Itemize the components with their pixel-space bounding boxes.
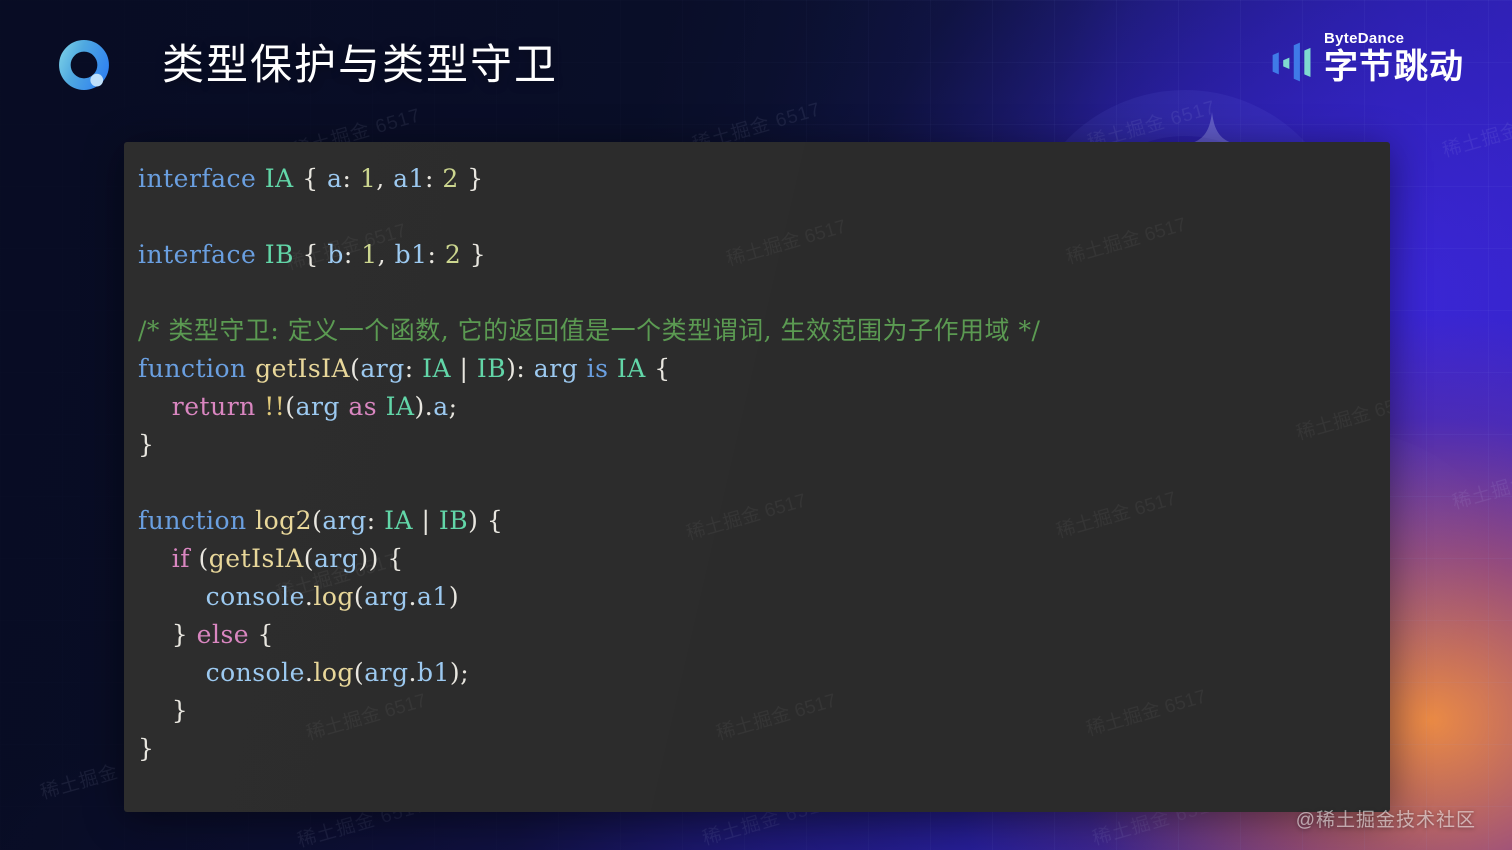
slide-root: 稀土掘金 6517 稀土掘金 6517 稀土掘金 6517 稀土掘金 6517 … — [0, 0, 1512, 850]
juejin-ring-logo-icon — [55, 36, 113, 94]
bytedance-bars-icon — [1270, 40, 1314, 84]
slide-header: 类型保护与类型守卫 ByteDance 字节跳动 — [0, 0, 1512, 128]
footer-watermark: @稀土掘金技术社区 — [1296, 805, 1476, 832]
code-block: 稀土掘金 6517 稀土掘金 6517 稀土掘金 6517 稀土掘金 6517 … — [124, 142, 1390, 812]
brand-name-en: ByteDance — [1324, 30, 1404, 47]
bytedance-brand-lockup: ByteDance 字节跳动 — [1270, 30, 1464, 86]
brand-name-cn: 字节跳动 — [1324, 48, 1464, 86]
page-title: 类型保护与类型守卫 — [162, 38, 558, 92]
background-watermark: 稀土掘金 6517 — [1449, 452, 1512, 514]
code-content: interface IA { a: 1, a1: 2 } interface I… — [138, 160, 1390, 768]
